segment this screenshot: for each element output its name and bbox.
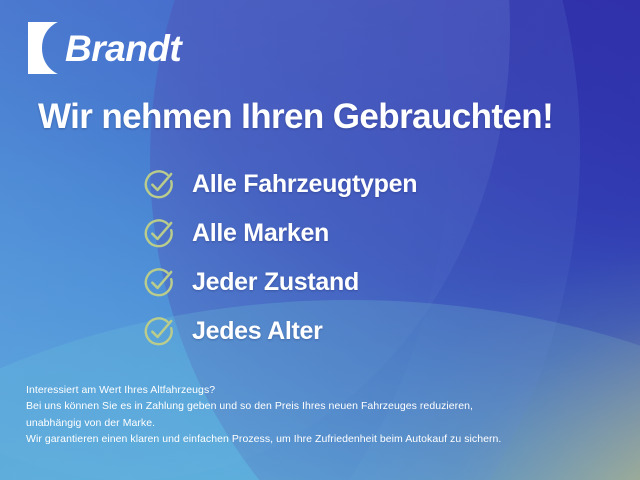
brand-name: Brandt (65, 30, 181, 67)
banner-content: Brandt Wir nehmen Ihren Gebrauchten! All… (0, 0, 640, 480)
check-circle-icon (143, 266, 176, 299)
promo-banner: Brandt Wir nehmen Ihren Gebrauchten! All… (0, 0, 640, 480)
page-title: Wir nehmen Ihren Gebrauchten! (38, 98, 553, 135)
footer-line-4: Wir garantieren einen klaren und einfach… (26, 431, 501, 447)
brandt-bracket-mark-icon (28, 22, 58, 74)
feature-label: Alle Marken (192, 221, 329, 246)
list-item: Jedes Alter (143, 307, 417, 356)
list-item: Jeder Zustand (143, 258, 417, 307)
list-item: Alle Fahrzeugtypen (143, 160, 417, 209)
check-circle-icon (143, 315, 176, 348)
feature-label: Alle Fahrzeugtypen (192, 172, 417, 197)
brand-logo[interactable]: Brandt (28, 22, 181, 74)
check-circle-icon (143, 217, 176, 250)
feature-list: Alle Fahrzeugtypen Alle Marken Jeder Zus… (143, 160, 417, 356)
feature-label: Jedes Alter (192, 319, 323, 344)
footer-line-3: unabhängig von der Marke. (26, 415, 501, 431)
feature-label: Jeder Zustand (192, 270, 359, 295)
list-item: Alle Marken (143, 209, 417, 258)
footer-text: Interessiert am Wert Ihres Altfahrzeugs?… (26, 382, 501, 448)
check-circle-icon (143, 168, 176, 201)
footer-line-1: Interessiert am Wert Ihres Altfahrzeugs? (26, 382, 501, 398)
footer-line-2: Bei uns können Sie es in Zahlung geben u… (26, 398, 501, 414)
